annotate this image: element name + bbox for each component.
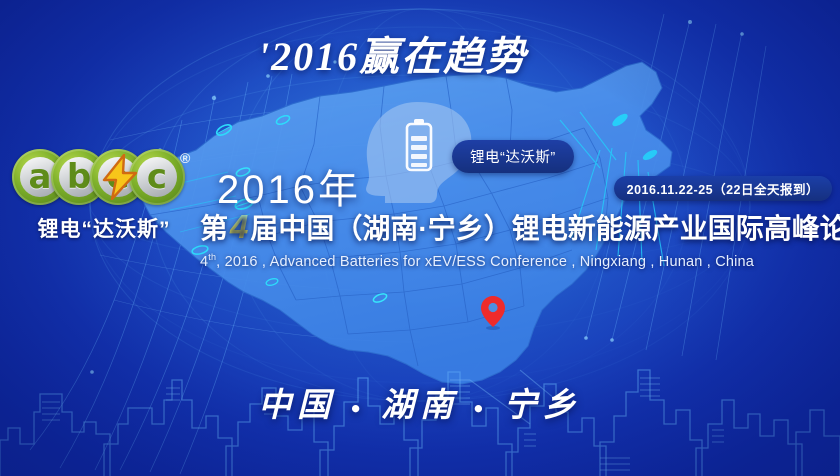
lithium-davos-badge[interactable]: 锂电“达沃斯” xyxy=(452,140,574,173)
date-badge[interactable]: 2016.11.22-25（22日全天报到） xyxy=(614,176,832,201)
abec-logo[interactable]: a b e c ® 锂电“达沃斯” xyxy=(6,146,202,246)
abec-wordmark: a b e c ® xyxy=(12,146,188,208)
title-prefix: 第 xyxy=(200,207,228,247)
lightning-bolt-icon xyxy=(98,154,142,200)
english-subtitle: 4th, 2016 , Advanced Batteries for xEV/E… xyxy=(200,252,754,270)
location-script: 中国 ● 湖南 ● 宁乡 xyxy=(0,378,840,426)
edition-number: 4 xyxy=(228,208,250,246)
conference-poster: '2016赢在趋势 a b e c ® 锂电“达沃斯 xyxy=(0,0,840,476)
registered-trademark-icon: ® xyxy=(180,150,190,166)
location-city: 宁乡 xyxy=(504,388,582,424)
subtitle-ordinal-suffix: th xyxy=(208,252,216,262)
bullet-separator-icon: ● xyxy=(350,398,366,417)
title-suffix: 届中国（湖南·宁乡）锂电新能源产业国际高峰论坛 xyxy=(250,207,840,247)
location-country: 中国 xyxy=(258,388,336,424)
bullet-separator-icon: ● xyxy=(473,398,489,417)
map-pin-icon xyxy=(481,296,505,330)
location-province: 湖南 xyxy=(381,388,459,424)
logo-subtitle: 锂电“达沃斯” xyxy=(6,213,202,243)
page-title: 第 4 届中国（湖南·宁乡）锂电新能源产业国际高峰论坛 xyxy=(200,207,840,247)
subtitle-rest: , 2016 , Advanced Batteries for xEV/ESS … xyxy=(216,254,754,270)
script-headline: '2016赢在趋势 xyxy=(258,24,588,80)
